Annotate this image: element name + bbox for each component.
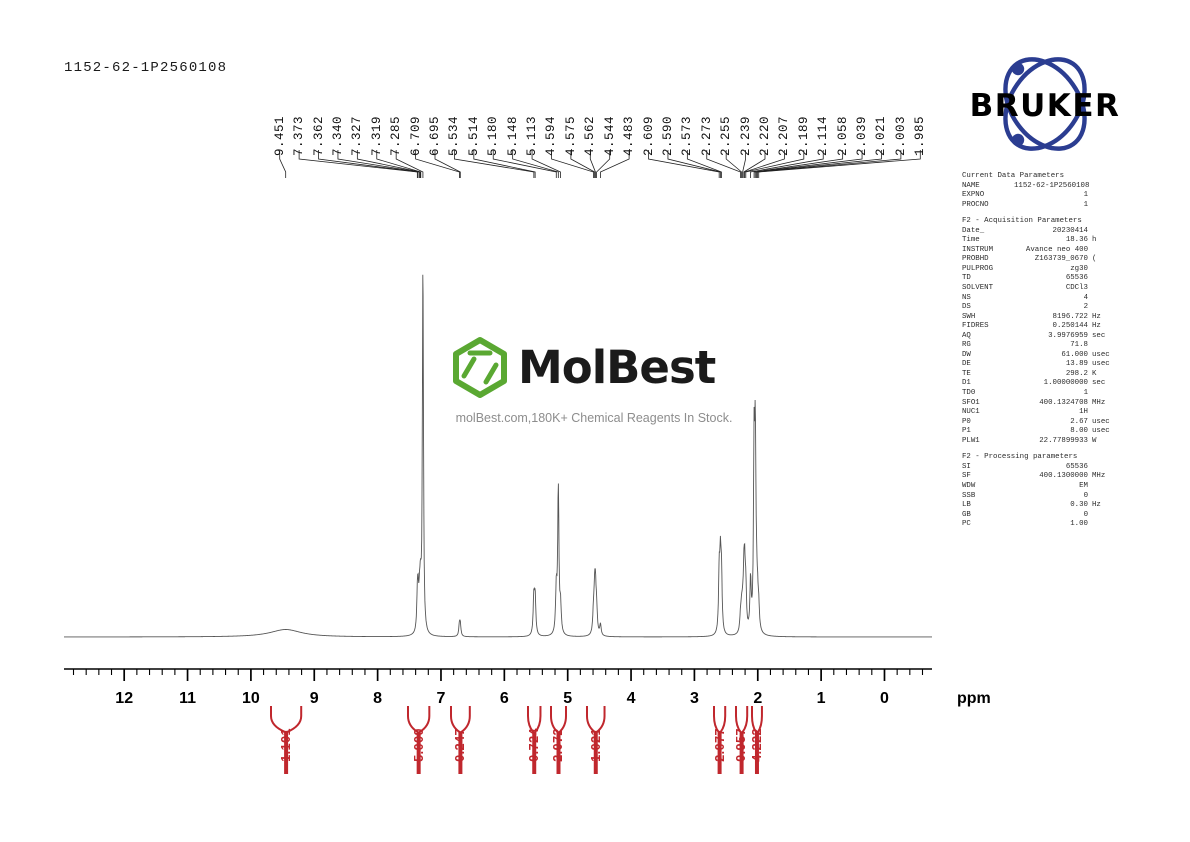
param-value: 8.00 [1014, 427, 1088, 437]
integral-value: 5.000 [412, 728, 426, 762]
param-row: Time18.36h [962, 236, 1122, 246]
param-row: PC1.00 [962, 520, 1122, 530]
param-key: SSB [962, 492, 1014, 502]
orbit-node-bottom [1012, 134, 1024, 146]
param-unit [1088, 341, 1122, 351]
param-key: PLW1 [962, 437, 1014, 447]
param-row: SI65536 [962, 463, 1122, 473]
param-unit: Hz [1088, 313, 1122, 323]
integral-marker: 0.957 [734, 706, 749, 786]
benzene-hexagon-icon [448, 336, 512, 398]
acquisition-parameter-panel: Current Data ParametersNAME1152-62-1P256… [962, 172, 1122, 530]
param-unit [1088, 246, 1122, 256]
param-unit: usec [1088, 418, 1122, 428]
spectrum-plot [64, 250, 932, 642]
peak-leader-line [416, 150, 460, 178]
peak-leader-line [751, 150, 824, 178]
peak-label-rack: 9.4517.3737.3627.3407.3277.3197.2856.709… [270, 56, 930, 156]
param-unit [1088, 284, 1122, 294]
peak-leader-line [435, 150, 460, 178]
param-unit: ( [1088, 255, 1122, 265]
param-value: 20230414 [1014, 227, 1088, 237]
param-value: 13.89 [1014, 360, 1088, 370]
peak-leader-line [707, 150, 741, 178]
param-value: 0.30 [1014, 501, 1088, 511]
param-value: 22.77899933 [1014, 437, 1088, 447]
param-value: 3.9976959 [1014, 332, 1088, 342]
ppm-unit-label: ppm [957, 690, 991, 708]
param-key: FIDRES [962, 322, 1014, 332]
param-unit [1088, 265, 1122, 275]
param-row: DE13.89usec [962, 360, 1122, 370]
integral-value: 2.077 [713, 728, 727, 762]
param-row: NUC11H [962, 408, 1122, 418]
param-unit [1088, 520, 1122, 530]
peak-leader-line [571, 150, 595, 178]
param-key: RG [962, 341, 1014, 351]
param-key: DS [962, 303, 1014, 313]
param-key: DE [962, 360, 1014, 370]
param-value: 71.8 [1014, 341, 1088, 351]
watermark-wordmark: MolBest [518, 345, 715, 390]
integral-marker: 0.247 [449, 706, 472, 786]
peak-leader-line [758, 150, 901, 178]
param-row: SWH8196.722Hz [962, 313, 1122, 323]
param-key: TE [962, 370, 1014, 380]
param-key: Time [962, 236, 1014, 246]
integral-marker: 1.021 [585, 706, 607, 786]
param-value: 0.250144 [1014, 322, 1088, 332]
param-row: GB0 [962, 511, 1122, 521]
param-key: SWH [962, 313, 1014, 323]
param-value: 1.00 [1014, 520, 1088, 530]
param-key: NAME [962, 182, 1014, 192]
param-key: TD [962, 274, 1014, 284]
peak-leader-line [280, 150, 286, 178]
param-unit: usec [1088, 427, 1122, 437]
param-key: WDW [962, 482, 1014, 492]
param-section-title: F2 - Processing parameters [962, 453, 1122, 463]
peak-leader-line [396, 150, 423, 178]
integral-marker: 1.101 [269, 706, 303, 786]
spectrum-title: 1152-62-1P2560108 [64, 60, 227, 76]
peak-leader-line [649, 150, 720, 178]
peak-leader-line [551, 150, 593, 178]
param-value: 65536 [1014, 274, 1088, 284]
param-key: EXPNO [962, 191, 1014, 201]
param-row: SSB0 [962, 492, 1122, 502]
peak-leader-line [493, 150, 556, 178]
param-row: TE298.2K [962, 370, 1122, 380]
watermark-tagline: molBest.com,180K+ Chemical Reagents In S… [448, 411, 740, 425]
param-value: 1 [1014, 191, 1088, 201]
param-key: P1 [962, 427, 1014, 437]
param-key: SOLVENT [962, 284, 1014, 294]
param-unit [1088, 492, 1122, 502]
param-key: PROCNO [962, 201, 1014, 211]
param-key: DW [962, 351, 1014, 361]
param-key: PULPROG [962, 265, 1014, 275]
integral-value: 0.724 [527, 728, 541, 762]
param-row: PLW122.77899933W [962, 437, 1122, 447]
param-unit [1088, 227, 1122, 237]
param-value: 1H [1014, 408, 1088, 418]
param-row: INSTRUMAvance neo 400 [962, 246, 1122, 256]
param-value: 2 [1014, 303, 1088, 313]
param-value: CDCl3 [1014, 284, 1088, 294]
peak-leader-line [726, 150, 741, 178]
param-key: PROBHD [962, 255, 1014, 265]
param-unit: W [1088, 437, 1122, 447]
param-unit [1088, 463, 1122, 473]
param-key: SF [962, 472, 1014, 482]
param-unit: sec [1088, 332, 1122, 342]
param-unit: Hz [1088, 501, 1122, 511]
param-row: D11.00000000sec [962, 379, 1122, 389]
param-key: AQ [962, 332, 1014, 342]
param-section-title: Current Data Parameters [962, 172, 1122, 182]
param-key: LB [962, 501, 1014, 511]
integral-marker: 5.000 [406, 706, 431, 786]
param-unit: MHz [1088, 399, 1122, 409]
param-row: NAME1152-62-1P2560108 [962, 182, 1122, 192]
param-row: LB0.30Hz [962, 501, 1122, 511]
param-unit: Hz [1088, 322, 1122, 332]
param-value: 400.1300000 [1014, 472, 1088, 482]
param-unit: usec [1088, 360, 1122, 370]
param-value: 0 [1014, 511, 1088, 521]
param-row: Date_20230414 [962, 227, 1122, 237]
param-row: PROCNO1 [962, 201, 1122, 211]
param-value: 1.00000000 [1014, 379, 1088, 389]
param-unit: sec [1088, 379, 1122, 389]
param-value: 18.36 [1014, 236, 1088, 246]
integral-marker: 2.072 [549, 706, 568, 786]
param-row: DW61.000usec [962, 351, 1122, 361]
param-value: 1 [1014, 389, 1088, 399]
param-row: DS2 [962, 303, 1122, 313]
param-key: PC [962, 520, 1014, 530]
integral-marker: 2.077 [712, 706, 727, 786]
param-unit [1088, 511, 1122, 521]
orbit-node-top [1012, 63, 1024, 75]
param-section-title: F2 - Acquisition Parameters [962, 217, 1122, 227]
spectrum-line [64, 275, 932, 637]
param-row: P02.67usec [962, 418, 1122, 428]
integral-value: 1.101 [279, 728, 293, 762]
peak-leader-line [454, 150, 533, 178]
param-value: 1 [1014, 201, 1088, 211]
param-value: 2.67 [1014, 418, 1088, 428]
param-value: 1152-62-1P2560108 [1014, 182, 1089, 192]
param-value: 65536 [1014, 463, 1088, 473]
integral-value: 2.072 [551, 728, 565, 762]
param-key: D1 [962, 379, 1014, 389]
integral-value: 1.021 [589, 728, 603, 762]
param-row: SF400.1300000MHz [962, 472, 1122, 482]
peak-leader-lines [270, 150, 930, 178]
param-value: 4 [1014, 294, 1088, 304]
peak-leader-line [687, 150, 721, 178]
param-row: WDWEM [962, 482, 1122, 492]
param-value: 0 [1014, 492, 1088, 502]
param-unit: MHz [1088, 472, 1122, 482]
param-unit [1089, 182, 1123, 192]
param-unit [1088, 303, 1122, 313]
param-unit [1088, 201, 1122, 211]
param-row: TD01 [962, 389, 1122, 399]
param-value: zg30 [1014, 265, 1088, 275]
param-row: AQ3.9976959sec [962, 332, 1122, 342]
param-row: RG71.8 [962, 341, 1122, 351]
param-key: SI [962, 463, 1014, 473]
integral-value: 0.247 [453, 728, 467, 762]
param-unit [1088, 294, 1122, 304]
param-key: NS [962, 294, 1014, 304]
param-value: 400.1324708 [1014, 399, 1088, 409]
param-unit: usec [1088, 351, 1122, 361]
param-row: FIDRES0.250144Hz [962, 322, 1122, 332]
param-row: PROBHDZ163739_0670( [962, 255, 1122, 265]
param-key: GB [962, 511, 1014, 521]
param-row: SOLVENTCDCl3 [962, 284, 1122, 294]
param-row: TD65536 [962, 274, 1122, 284]
param-value: 61.000 [1014, 351, 1088, 361]
integral-value: 0.957 [734, 728, 748, 762]
bruker-wordmark: BRUKER [970, 88, 1121, 124]
param-key: SFO1 [962, 399, 1014, 409]
peak-leader-line [597, 150, 610, 178]
bruker-logo: BRUKER [962, 52, 1128, 156]
integral-marker: 0.724 [526, 706, 542, 786]
param-key: TD0 [962, 389, 1014, 399]
param-key: INSTRUM [962, 246, 1014, 256]
integral-value: 4.222 [750, 728, 764, 762]
param-value: Avance neo 400 [1014, 246, 1088, 256]
param-row: P18.00usec [962, 427, 1122, 437]
spectrum-trace [64, 250, 932, 642]
param-unit [1088, 274, 1122, 284]
integral-marker: 4.222 [750, 706, 764, 786]
param-value: EM [1014, 482, 1088, 492]
param-row: PULPROGzg30 [962, 265, 1122, 275]
param-row: EXPNO1 [962, 191, 1122, 201]
param-value: 298.2 [1014, 370, 1088, 380]
param-key: Date_ [962, 227, 1014, 237]
param-key: P0 [962, 418, 1014, 428]
param-key: NUC1 [962, 408, 1014, 418]
integral-layer: 1.1015.0000.2470.7242.0721.0212.0770.957… [64, 706, 932, 786]
peak-leader-line [754, 150, 843, 178]
param-value: 8196.722 [1014, 313, 1088, 323]
param-value: Z163739_0670 [1014, 255, 1088, 265]
param-unit [1088, 191, 1122, 201]
molbest-watermark: MolBest molBest.com,180K+ Chemical Reage… [448, 336, 748, 425]
param-unit: h [1088, 236, 1122, 246]
param-unit: K [1088, 370, 1122, 380]
param-row: SFO1400.1324708MHz [962, 399, 1122, 409]
param-unit [1088, 389, 1122, 399]
param-row: NS4 [962, 294, 1122, 304]
param-unit [1088, 482, 1122, 492]
param-unit [1088, 408, 1122, 418]
